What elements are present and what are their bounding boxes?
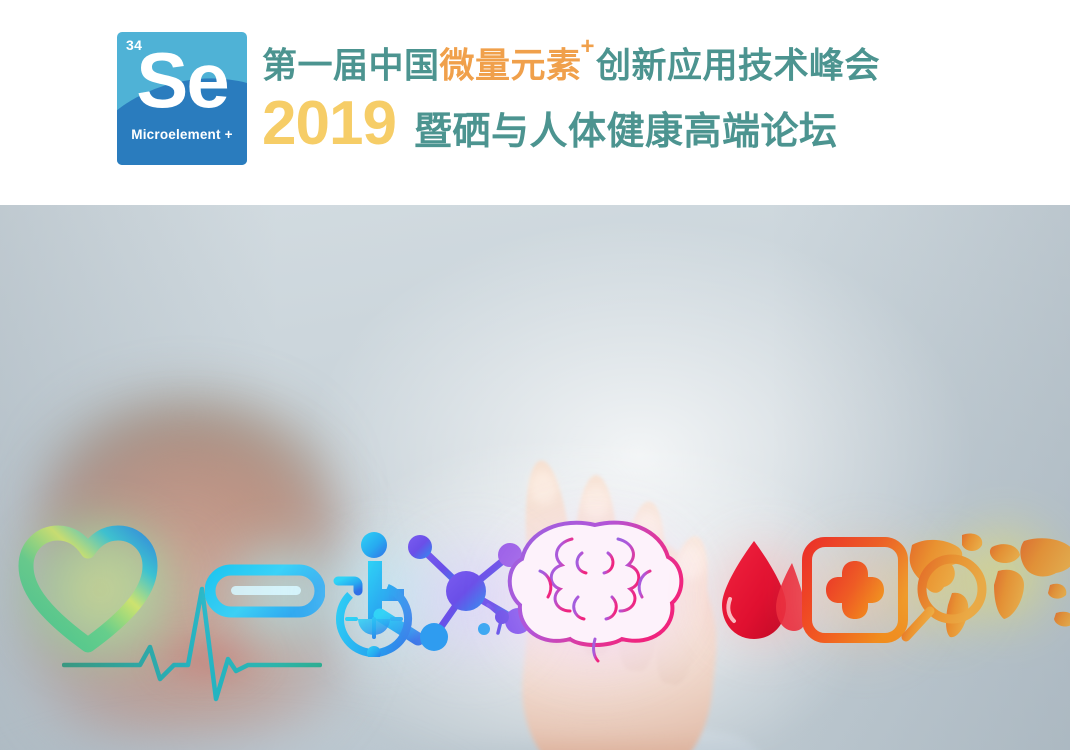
summit-year: 2019 — [262, 93, 396, 155]
page-header: 34 Se Microelement + 第一届中国微量元素+创新应用技术峰会 … — [0, 0, 1070, 205]
summit-subtitle: 暨硒与人体健康高端论坛 — [414, 113, 838, 151]
logo-caption: Microelement + — [117, 127, 247, 142]
brain-icon — [500, 513, 690, 668]
logo-element-symbol: Se — [117, 40, 247, 122]
title-highlight: 微量元素 — [440, 47, 582, 86]
title-superscript-plus: + — [581, 33, 596, 60]
title-block: 第一届中国微量元素+创新应用技术峰会 2019 暨硒与人体健康高端论坛 — [262, 44, 1042, 155]
title-suffix: 创新应用技术峰会 — [596, 47, 880, 86]
summit-title-line2: 2019 暨硒与人体健康高端论坛 — [262, 93, 1042, 155]
icon-row — [0, 205, 1070, 750]
hero-photo: 创新 赋能 共生 — [0, 205, 1070, 750]
world-map-search-icon — [900, 527, 1070, 657]
title-prefix: 第一届中国 — [262, 47, 440, 86]
se-element-logo: 34 Se Microelement + — [117, 32, 247, 165]
summit-title-line1: 第一届中国微量元素+创新应用技术峰会 — [262, 44, 1042, 87]
banner-page: 34 Se Microelement + 第一届中国微量元素+创新应用技术峰会 … — [0, 0, 1070, 750]
